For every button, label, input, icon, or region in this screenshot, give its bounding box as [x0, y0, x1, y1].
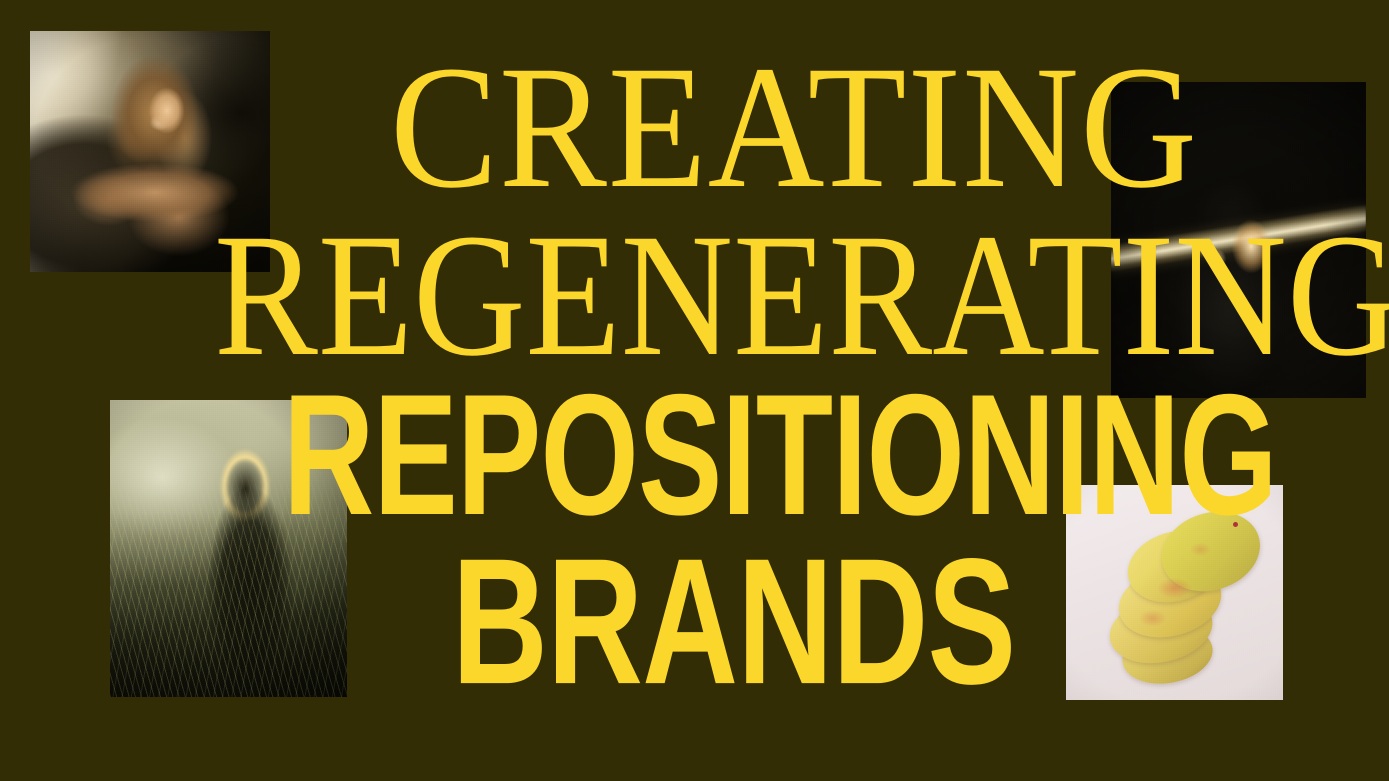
slide-canvas: CREATING REGENERATING REPOSITIONING BRAN… — [0, 0, 1389, 781]
headline-line-regenerating: REGENERATING — [214, 208, 1389, 384]
headline-line-brands: BRANDS — [452, 533, 1015, 712]
headline-line-creating: CREATING — [390, 40, 1198, 216]
headline-line-repositioning: REPOSITIONING — [283, 369, 1277, 541]
